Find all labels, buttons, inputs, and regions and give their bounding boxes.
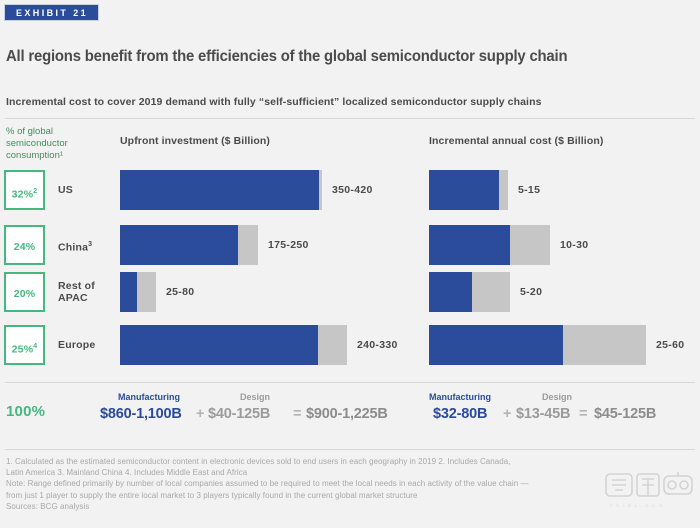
exhibit-badge: EXHIBIT 21: [4, 4, 99, 21]
bar-segment-high-upfront-rest-of-apac: [137, 272, 156, 312]
totals-value-sum-upfront: $900-1,225B: [306, 406, 388, 422]
bar-segment-low-annual-us: [429, 170, 499, 210]
bar-value-annual-rest-of-apac: 5-20: [520, 272, 542, 312]
bar-segment-high-upfront-china: [238, 225, 258, 265]
footnote-line: Sources: BCG analysis: [6, 501, 694, 512]
bar-value-upfront-rest-of-apac: 25-80: [166, 272, 194, 312]
bar-segment-low-upfront-china: [120, 225, 238, 265]
bar-value-annual-europe: 25-60: [656, 325, 684, 365]
consumption-box-europe: 25%4: [4, 325, 45, 365]
totals-operator-plus-upfront: +: [196, 406, 204, 422]
bar-segment-high-annual-europe: [563, 325, 646, 365]
bar-segment-high-annual-china: [510, 225, 550, 265]
bar-segment-low-upfront-europe: [120, 325, 318, 365]
chart-subtitle: Incremental cost to cover 2019 demand wi…: [6, 96, 686, 108]
footnotes: 1. Calculated as the estimated semicondu…: [6, 456, 694, 512]
bar-annual-china: 10-30: [429, 225, 550, 265]
bar-value-annual-china: 10-30: [560, 225, 588, 265]
totals-caption-design-upfront: Design: [240, 392, 270, 402]
divider-top: [5, 118, 695, 119]
footnote-line: Latin America 3. Mainland China 4. Inclu…: [6, 467, 694, 478]
totals-operator-equals-annual: =: [579, 406, 587, 422]
bar-value-upfront-us: 350-420: [332, 170, 373, 210]
consumption-value-rest-of-apac: 20%: [6, 274, 43, 314]
region-label-china: China3: [58, 239, 92, 254]
footnote-line: from just 1 player to supply the entire …: [6, 490, 694, 501]
bar-segment-low-upfront-us: [120, 170, 319, 210]
totals-value-manufacturing-upfront: $860-1,100B: [100, 406, 182, 422]
bar-annual-us: 5-15: [429, 170, 508, 210]
bar-segment-low-upfront-rest-of-apac: [120, 272, 137, 312]
totals-value-design-upfront: $40-125B: [208, 406, 270, 422]
totals-caption-design-annual: Design: [542, 392, 572, 402]
column-header-annual-cost: Incremental annual cost ($ Billion): [429, 135, 603, 147]
divider-middle: [5, 382, 695, 383]
consumption-value-us: 32%2: [6, 172, 43, 215]
bar-segment-high-upfront-us: [319, 170, 322, 210]
bar-value-upfront-europe: 240-330: [357, 325, 398, 365]
totals-value-sum-annual: $45-125B: [594, 406, 656, 422]
totals-value-manufacturing-annual: $32-80B: [433, 406, 487, 422]
consumption-value-europe: 25%4: [6, 327, 43, 370]
totals-operator-plus-annual: +: [503, 406, 511, 422]
bar-segment-high-upfront-europe: [318, 325, 347, 365]
region-label-rest-of-apac: Rest ofAPAC: [58, 280, 95, 304]
consumption-box-us: 32%2: [4, 170, 45, 210]
totals-caption-manufacturing-annual: Manufacturing: [429, 392, 491, 402]
totals-value-design-annual: $13-45B: [516, 406, 570, 422]
footnote-line: 1. Calculated as the estimated semicondu…: [6, 456, 694, 467]
column-header-upfront-investment: Upfront investment ($ Billion): [120, 135, 270, 147]
bar-segment-low-annual-china: [429, 225, 510, 265]
bar-annual-europe: 25-60: [429, 325, 646, 365]
consumption-value-china: 24%: [6, 227, 43, 267]
bar-value-annual-us: 5-15: [518, 170, 540, 210]
footnote-line: Note: Range defined primarily by number …: [6, 478, 694, 489]
bar-segment-high-annual-rest-of-apac: [472, 272, 510, 312]
bar-upfront-us: 350-420: [120, 170, 322, 210]
page-title: All regions benefit from the efficiencie…: [6, 48, 659, 66]
consumption-box-rest-of-apac: 20%: [4, 272, 45, 312]
bar-segment-low-annual-rest-of-apac: [429, 272, 472, 312]
total-consumption-value: 100%: [6, 403, 45, 420]
bar-annual-rest-of-apac: 5-20: [429, 272, 510, 312]
consumption-box-china: 24%: [4, 225, 45, 265]
bar-upfront-europe: 240-330: [120, 325, 347, 365]
region-label-europe: Europe: [58, 339, 95, 351]
bar-segment-low-annual-europe: [429, 325, 563, 365]
totals-caption-manufacturing-upfront: Manufacturing: [118, 392, 180, 402]
bar-upfront-china: 175-250: [120, 225, 258, 265]
bar-upfront-rest-of-apac: 25-80: [120, 272, 156, 312]
totals-operator-equals-upfront: =: [293, 406, 301, 422]
bar-value-upfront-china: 175-250: [268, 225, 309, 265]
region-label-us: US: [58, 184, 73, 196]
divider-bottom: [5, 449, 695, 450]
bar-segment-high-annual-us: [499, 170, 508, 210]
legend-consumption-label: % of global semiconductor consumption¹: [6, 126, 116, 162]
